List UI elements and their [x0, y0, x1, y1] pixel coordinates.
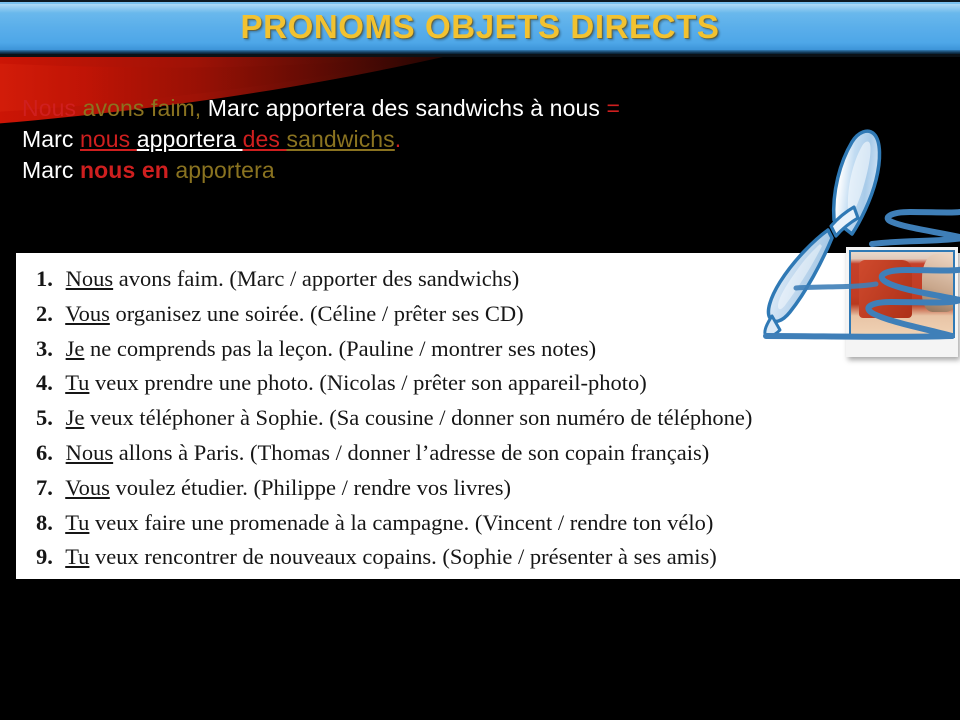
- line3-seg-nous-en: nous en: [80, 157, 169, 183]
- item-pronoun: Nous: [66, 440, 114, 465]
- item-pronoun: Vous: [65, 301, 110, 326]
- line3-seg-marc: Marc: [22, 157, 80, 183]
- item-number: 2.: [36, 297, 60, 332]
- page-title: PRONOMS OBJETS DIRECTS: [0, 8, 960, 46]
- item-number: 5.: [36, 401, 60, 436]
- item-sentence: voulez étudier. (Philippe / rendre vos l…: [110, 475, 511, 500]
- line2-seg-sandwichs: sandwichs: [287, 126, 395, 152]
- item-number: 1.: [36, 262, 60, 297]
- item-sentence: ne comprends pas la leçon. (Pauline / mo…: [84, 336, 596, 361]
- item-pronoun: Je: [66, 336, 85, 361]
- item-sentence: allons à Paris. (Thomas / donner l’adres…: [113, 440, 709, 465]
- item-sentence: organisez une soirée. (Céline / prêter s…: [110, 301, 524, 326]
- item-sentence: avons faim. (Marc / apporter des sandwic…: [113, 266, 519, 291]
- item-sentence: veux prendre une photo. (Nicolas / prête…: [89, 370, 646, 395]
- line1-seg-equals: =: [606, 95, 620, 121]
- line2-seg-des: des: [243, 126, 287, 152]
- line1-seg-main: Marc apportera des sandwichs à nous: [208, 95, 607, 121]
- list-item: 4. Tu veux prendre une photo. (Nicolas /…: [16, 366, 960, 401]
- list-item: 8. Tu veux faire une promenade à la camp…: [16, 506, 960, 541]
- exercise-panel: 1. Nous avons faim. (Marc / apporter des…: [16, 253, 960, 579]
- item-sentence: veux faire une promenade à la campagne. …: [89, 510, 713, 535]
- list-item: 2. Vous organisez une soirée. (Céline / …: [16, 297, 960, 332]
- person-in-red-photo: [846, 247, 958, 357]
- item-sentence: veux téléphoner à Sophie. (Sa cousine / …: [84, 405, 752, 430]
- example-line-2: Marc nous apportera des sandwichs.: [22, 124, 852, 155]
- item-number: 4.: [36, 366, 60, 401]
- line1-seg-nous: Nous: [22, 95, 83, 121]
- item-pronoun: Tu: [65, 544, 89, 569]
- list-item: 6. Nous allons à Paris. (Thomas / donner…: [16, 436, 960, 471]
- line2-seg-apportera: apportera: [137, 126, 243, 152]
- list-item: 3. Je ne comprends pas la leçon. (Paulin…: [16, 332, 960, 367]
- item-sentence: veux rencontrer de nouveaux copains. (So…: [89, 544, 716, 569]
- list-item: 7. Vous voulez étudier. (Philippe / rend…: [16, 471, 960, 506]
- example-text-block: Nous avons faim, Marc apportera des sand…: [22, 93, 852, 186]
- line1-seg-avons-faim: avons faim,: [83, 95, 208, 121]
- item-number: 9.: [36, 540, 60, 575]
- item-pronoun: Vous: [65, 475, 110, 500]
- item-number: 7.: [36, 471, 60, 506]
- item-number: 8.: [36, 506, 60, 541]
- line2-seg-marc: Marc: [22, 126, 80, 152]
- photo-image: [849, 250, 955, 338]
- list-item: 1. Nous avons faim. (Marc / apporter des…: [16, 262, 960, 297]
- item-pronoun: Tu: [65, 370, 89, 395]
- item-pronoun: Tu: [65, 510, 89, 535]
- list-item: 9. Tu veux rencontrer de nouveaux copain…: [16, 540, 960, 575]
- list-item: 5. Je veux téléphoner à Sophie. (Sa cous…: [16, 401, 960, 436]
- title-banner: PRONOMS OBJETS DIRECTS: [0, 0, 960, 57]
- exercise-list: 1. Nous avons faim. (Marc / apporter des…: [16, 253, 960, 575]
- example-line-3: Marc nous en apportera: [22, 155, 852, 186]
- item-number: 6.: [36, 436, 60, 471]
- example-line-1: Nous avons faim, Marc apportera des sand…: [22, 93, 852, 124]
- slide-canvas: PRONOMS OBJETS DIRECTS Nous avons faim, …: [0, 0, 960, 720]
- item-pronoun: Nous: [66, 266, 114, 291]
- item-number: 3.: [36, 332, 60, 367]
- line2-seg-nous: nous: [80, 126, 137, 152]
- line3-seg-apportera: apportera: [169, 157, 275, 183]
- line2-seg-period: .: [395, 126, 402, 152]
- item-pronoun: Je: [66, 405, 85, 430]
